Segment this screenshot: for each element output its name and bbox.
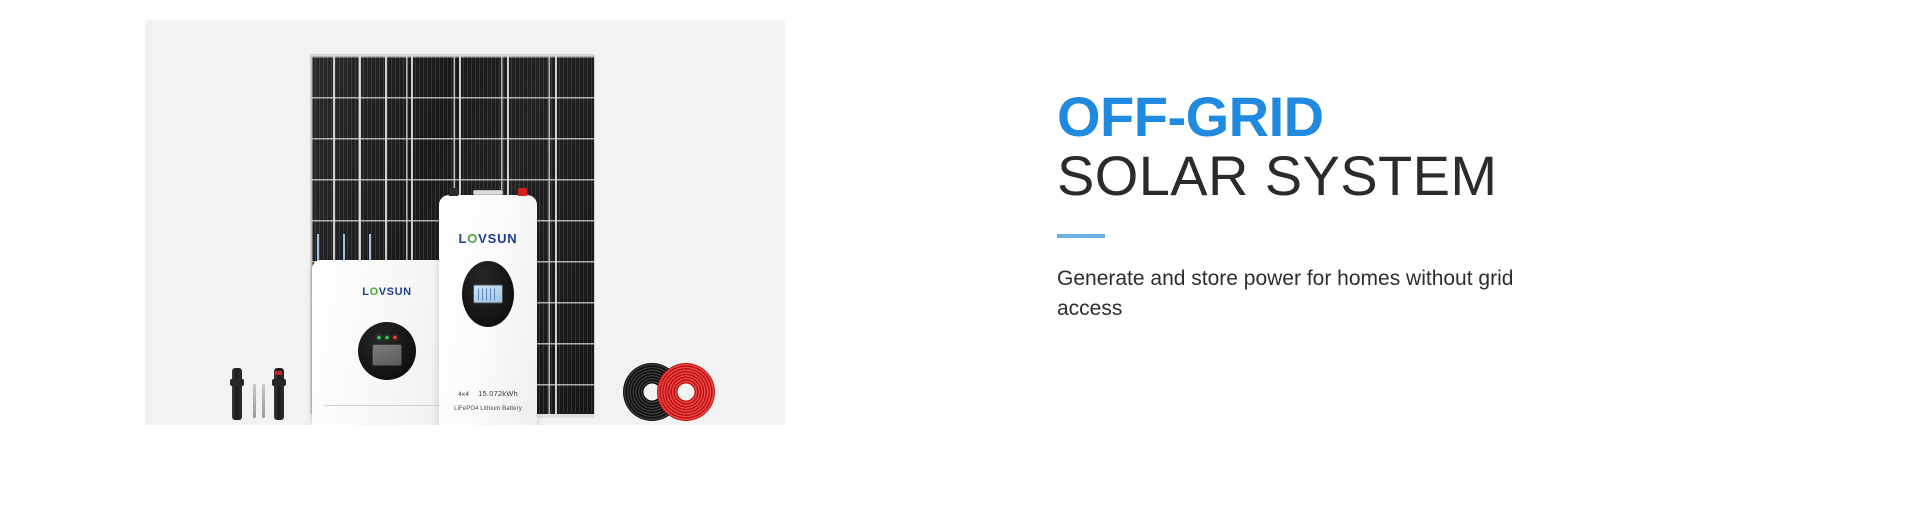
panel-busbar <box>555 56 557 414</box>
inverter-led-row <box>378 336 397 339</box>
headline-primary: OFF-GRID <box>1057 88 1617 145</box>
battery-chemistry-label: LiFePO4 Lithium Battery <box>439 406 537 412</box>
banner-subtitle: Generate and store power for homes witho… <box>1057 264 1517 324</box>
battery-handle-icon <box>473 190 503 195</box>
inverter-display <box>358 322 416 380</box>
battery-brand-logo: LOVSUN <box>439 231 537 246</box>
headline-secondary: SOLAR SYSTEM <box>1057 147 1617 206</box>
lithium-battery-icon: LOVSUN 4x415.072kWh LiFePO4 Lithium Batt… <box>439 195 537 425</box>
battery-capacity-label: 4x415.072kWh <box>439 389 537 398</box>
accessory-group <box>230 358 298 420</box>
accent-divider <box>1057 234 1105 238</box>
mc4-connector-icon <box>274 368 284 420</box>
led-green-icon <box>386 336 389 339</box>
battery-negative-terminal-icon <box>449 188 458 196</box>
red-cable-coil-icon <box>657 363 715 421</box>
led-green-icon <box>378 336 381 339</box>
battery-positive-terminal-icon <box>518 188 527 196</box>
mc4-connector-icon <box>232 368 242 420</box>
inverter-lcd-screen <box>372 344 402 366</box>
battery-level-bars-icon <box>478 288 498 300</box>
led-red-icon <box>394 336 397 339</box>
inverter-vent-line <box>324 405 450 406</box>
battery-display <box>462 261 514 327</box>
crimp-pin-icon <box>262 384 265 418</box>
crimp-pin-icon <box>253 384 256 418</box>
battery-lcd-screen <box>473 285 503 304</box>
banner-text-content: OFF-GRID SOLAR SYSTEM Generate and store… <box>1057 88 1617 324</box>
off-grid-solar-banner: LOVSUN LOVSUN 4x415.072kWh <box>0 0 1920 520</box>
product-image-panel: LOVSUN LOVSUN 4x415.072kWh <box>145 20 785 425</box>
